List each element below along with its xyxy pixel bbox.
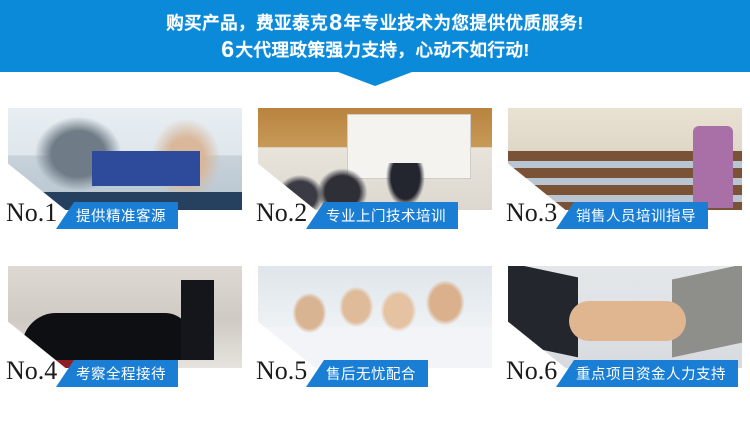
tag-skew-edge	[556, 202, 574, 229]
card-photo-3	[508, 108, 742, 210]
card-photo-2	[258, 108, 492, 210]
banner-arrow-notch-icon	[338, 72, 412, 86]
banner-text-block: 购买产品，费亚泰克8年专业技术为您提供优质服务! 6大代理政策强力支持，心动不如…	[0, 0, 750, 72]
card-number-2: No.2	[256, 200, 307, 226]
card-number-3: No.3	[506, 200, 557, 226]
service-card[interactable]: No.2 专业上门技术培训	[250, 96, 500, 246]
service-card[interactable]: No.5 售后无忧配合	[250, 254, 500, 404]
service-card[interactable]: No.1 提供精准客源	[0, 96, 250, 246]
banner-line1-suffix: 年专业技术为您提供优质服务!	[343, 13, 583, 33]
tag-skew-edge	[306, 360, 324, 387]
card-tag-label-4: 考察全程接待	[74, 360, 178, 387]
card-tag-6: 重点项目资金人力支持	[556, 360, 738, 387]
service-card[interactable]: No.3 销售人员培训指导	[500, 96, 750, 246]
banner-line1-number: 8	[328, 9, 343, 35]
banner-headline-line-2: 6大代理政策强力支持，心动不如行动!	[220, 37, 530, 62]
service-card[interactable]: No.6 重点项目资金人力支持	[500, 254, 750, 404]
card-number-4: No.4	[6, 358, 57, 384]
card-tag-1: 提供精准客源	[56, 202, 178, 229]
card-number-1: No.1	[6, 200, 57, 226]
header-banner: 购买产品，费亚泰克8年专业技术为您提供优质服务! 6大代理政策强力支持，心动不如…	[0, 0, 750, 72]
card-tag-3: 销售人员培训指导	[556, 202, 708, 229]
service-card-grid: No.1 提供精准客源 No.2 专业上门技术培训	[0, 96, 750, 426]
card-tag-4: 考察全程接待	[56, 360, 178, 387]
tag-skew-edge	[56, 360, 74, 387]
card-photo-1	[8, 108, 242, 210]
card-tag-label-6: 重点项目资金人力支持	[574, 360, 738, 387]
banner-line2-number: 6	[220, 36, 235, 62]
card-tag-label-1: 提供精准客源	[74, 202, 178, 229]
card-photo-6	[508, 266, 742, 368]
card-tag-label-2: 专业上门技术培训	[324, 202, 458, 229]
tag-skew-edge	[306, 202, 324, 229]
card-tag-label-3: 销售人员培训指导	[574, 202, 708, 229]
card-tag-2: 专业上门技术培训	[306, 202, 458, 229]
card-tag-label-5: 售后无忧配合	[324, 360, 428, 387]
tag-skew-edge	[556, 360, 574, 387]
promo-page: 购买产品，费亚泰克8年专业技术为您提供优质服务! 6大代理政策强力支持，心动不如…	[0, 0, 750, 433]
card-photo-4	[8, 266, 242, 368]
banner-line2-suffix: 大代理政策强力支持，心动不如行动!	[235, 40, 529, 60]
card-number-5: No.5	[256, 358, 307, 384]
tag-skew-edge	[56, 202, 74, 229]
card-number-6: No.6	[506, 358, 557, 384]
card-tag-5: 售后无忧配合	[306, 360, 428, 387]
card-photo-5	[258, 266, 492, 368]
service-card[interactable]: No.4 考察全程接待	[0, 254, 250, 404]
banner-headline-line-1: 购买产品，费亚泰克8年专业技术为您提供优质服务!	[166, 10, 584, 35]
banner-line1-prefix: 购买产品，费亚泰克	[166, 13, 328, 33]
